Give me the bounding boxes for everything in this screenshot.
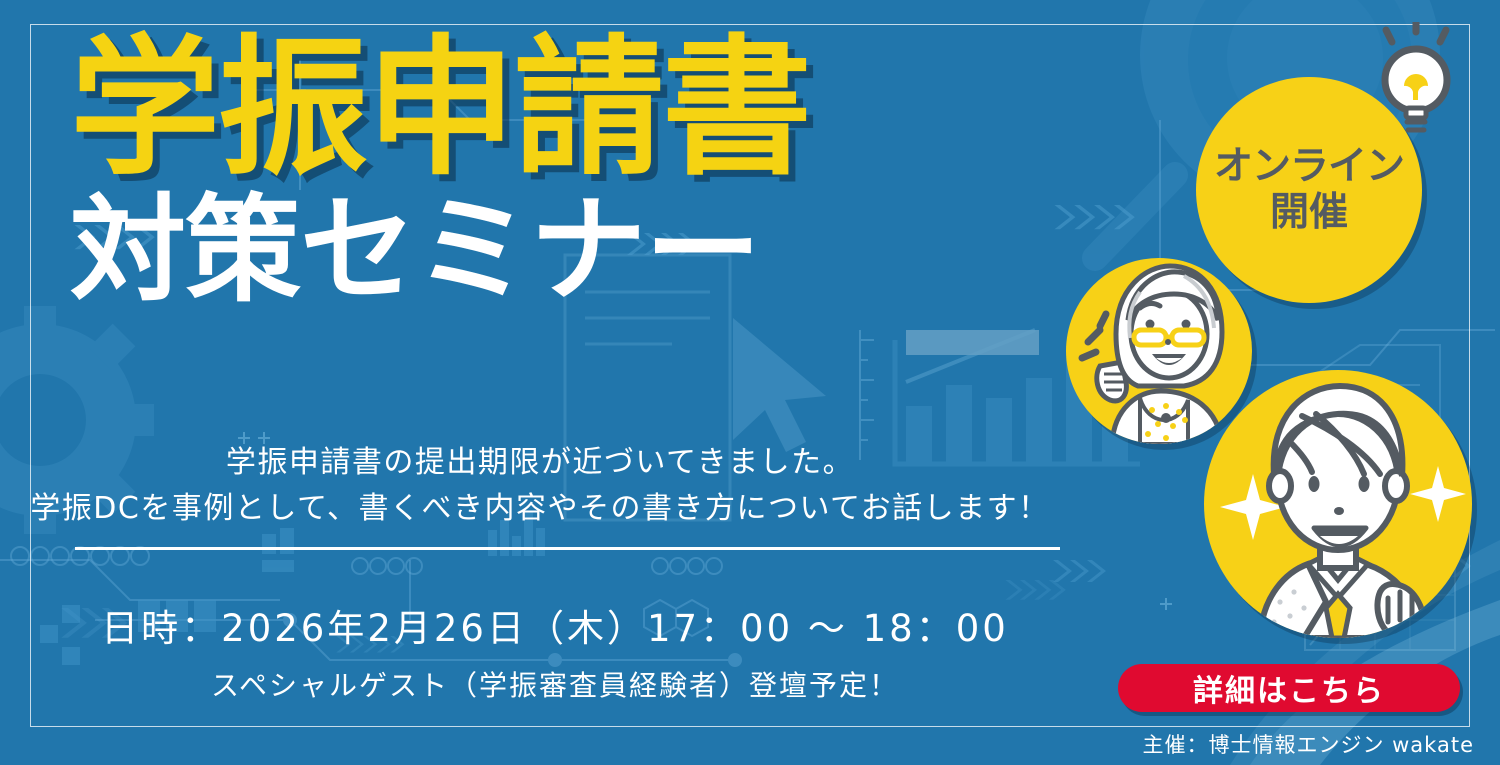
description-line1: 学振申請書の提出期限が近づいてきました。	[226, 445, 854, 480]
description-block: 学振申請書の提出期限が近づいてきました。 学振DCを事例として、書くべき内容やそ…	[0, 440, 1080, 531]
lightbulb-icon	[1370, 22, 1462, 143]
badge-label-line2: 開催	[1270, 190, 1348, 236]
details-cta-button[interactable]: 詳細はこちら	[1118, 664, 1460, 712]
headline-block: 学振申請書 対策セミナー	[70, 34, 1070, 313]
woman-with-glasses-avatar	[1066, 258, 1252, 444]
circle-row-icon	[11, 547, 722, 574]
seminar-banner: 学振申請書 対策セミナー 学振申請書の提出期限が近づいてきました。 学振DCを事…	[0, 0, 1500, 765]
page-title-line1: 学振申請書	[70, 34, 1070, 184]
page-title-line2: 対策セミナー	[70, 190, 1070, 313]
special-guest-note: スペシャルゲスト（学振審査員経験者）登壇予定！	[0, 664, 1110, 704]
event-datetime: 日時：2026年2月26日（木）17：00 ～ 18：00	[0, 598, 1110, 652]
organizer-credit: 主催：博士情報エンジン wakate	[1142, 729, 1474, 759]
description-line2: 学振DCを事例として、書くべき内容やその書き方についてお話します！	[0, 486, 1080, 532]
badge-label-line1: オンライン	[1214, 144, 1404, 190]
young-man-avatar	[1204, 370, 1472, 638]
cursor-arrow-icon	[733, 318, 826, 452]
divider-rule	[75, 547, 1060, 550]
